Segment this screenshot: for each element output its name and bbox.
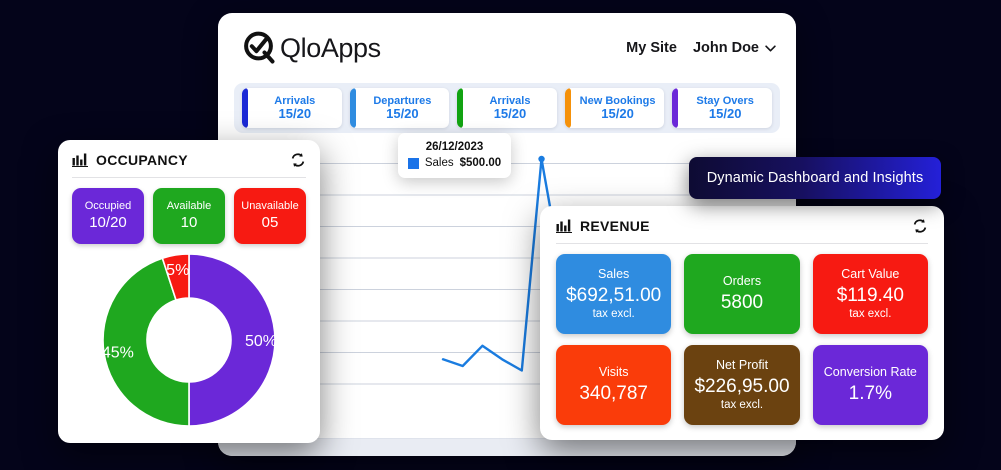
tile-label: Unavailable <box>241 200 298 214</box>
revenue-title-group: REVENUE <box>556 218 650 234</box>
tile-label: Net Profit <box>716 358 768 373</box>
kpi-body: Arrivals 15/20 <box>463 88 557 128</box>
tooltip-series-name: Sales <box>425 157 454 169</box>
donut-slice-label: 5% <box>166 262 189 279</box>
occupancy-tile[interactable]: Unavailable 05 <box>234 188 306 244</box>
tooltip-series-swatch <box>408 158 419 169</box>
tile-value: 5800 <box>721 291 763 314</box>
revenue-panel-header: REVENUE <box>556 218 928 234</box>
kpi-card[interactable]: New Bookings 15/20 <box>565 88 665 128</box>
occupancy-tile[interactable]: Occupied 10/20 <box>72 188 144 244</box>
chart-tooltip: 26/12/2023 Sales $500.00 <box>398 133 511 178</box>
bar-chart-icon <box>556 219 572 233</box>
chart-peak-point <box>538 156 544 162</box>
kpi-card[interactable]: Stay Overs 15/20 <box>672 88 772 128</box>
tile-sub: tax excl. <box>721 398 763 412</box>
refresh-icon[interactable] <box>912 218 928 234</box>
user-menu[interactable]: John Doe <box>693 40 776 56</box>
kpi-card[interactable]: Arrivals 15/20 <box>457 88 557 128</box>
user-name: John Doe <box>693 40 759 56</box>
tile-value: 1.7% <box>849 382 892 405</box>
donut-slice-label: 45% <box>102 344 134 361</box>
tile-value: 05 <box>262 214 279 233</box>
revenue-tile[interactable]: Net Profit $226,95.00 tax excl. <box>684 345 799 425</box>
bar-chart-icon <box>72 153 88 167</box>
brand-name: QloApps <box>280 33 381 64</box>
occupancy-title-group: OCCUPANCY <box>72 152 188 168</box>
check-circle-q-logo-icon <box>242 30 278 66</box>
donut-slice-label: 50% <box>245 333 277 350</box>
tile-value: $119.40 <box>837 284 904 307</box>
occupancy-panel-header: OCCUPANCY <box>72 152 306 168</box>
tile-label: Cart Value <box>841 267 899 282</box>
kpi-card[interactable]: Departures 15/20 <box>350 88 450 128</box>
tile-value: 10/20 <box>89 214 127 233</box>
occupancy-tile[interactable]: Available 10 <box>153 188 225 244</box>
tooltip-row: Sales $500.00 <box>408 157 501 169</box>
brand[interactable]: QloApps <box>242 30 381 66</box>
tile-value: 10 <box>181 214 198 233</box>
tooltip-series-value: $500.00 <box>460 157 502 169</box>
screenshot-stage: QloApps My Site John Doe Arrivals 15/20 <box>0 0 1001 470</box>
chevron-down-icon <box>765 45 776 52</box>
kpi-value: 15/20 <box>601 107 634 122</box>
refresh-icon[interactable] <box>290 152 306 168</box>
tile-label: Sales <box>598 267 629 282</box>
revenue-tile[interactable]: Sales $692,51.00 tax excl. <box>556 254 671 334</box>
kpi-body: Departures 15/20 <box>356 88 450 128</box>
tile-value: $692,51.00 <box>566 284 661 307</box>
header-right: My Site John Doe <box>626 40 776 56</box>
tile-label: Occupied <box>85 200 131 214</box>
kpi-value: 15/20 <box>386 107 419 122</box>
occupancy-donut-chart[interactable]: 50%45%5% <box>72 252 306 427</box>
occupancy-title: OCCUPANCY <box>96 152 188 168</box>
kpi-value: 15/20 <box>279 107 312 122</box>
kpi-strip: Arrivals 15/20 Departures 15/20 Arrivals… <box>234 83 780 133</box>
tile-label: Conversion Rate <box>824 365 917 380</box>
tooltip-date: 26/12/2023 <box>408 141 501 153</box>
revenue-panel: REVENUE Sales $692,51.00 tax excl. Order… <box>540 206 944 440</box>
kpi-body: New Bookings 15/20 <box>571 88 665 128</box>
divider <box>72 177 306 178</box>
occupancy-panel: OCCUPANCY Occupied 10/20 Available 10 <box>58 140 320 443</box>
occupancy-tiles: Occupied 10/20 Available 10 Unavailable … <box>72 188 306 244</box>
tile-value: $226,95.00 <box>694 375 789 398</box>
tile-sub: tax excl. <box>849 307 891 321</box>
divider <box>556 243 928 244</box>
kpi-body: Stay Overs 15/20 <box>678 88 772 128</box>
revenue-title: REVENUE <box>580 218 650 234</box>
kpi-card[interactable]: Arrivals 15/20 <box>242 88 342 128</box>
tile-label: Orders <box>723 274 761 289</box>
tile-sub: tax excl. <box>593 307 635 321</box>
kpi-body: Arrivals 15/20 <box>248 88 342 128</box>
tile-value: 340,787 <box>579 382 648 405</box>
revenue-tile[interactable]: Cart Value $119.40 tax excl. <box>813 254 928 334</box>
kpi-value: 15/20 <box>709 107 742 122</box>
revenue-tile[interactable]: Conversion Rate 1.7% <box>813 345 928 425</box>
tile-label: Visits <box>599 365 629 380</box>
revenue-tiles: Sales $692,51.00 tax excl. Orders 5800 C… <box>556 254 928 425</box>
tile-label: Available <box>167 200 211 214</box>
dashboard-header: QloApps My Site John Doe <box>218 13 796 83</box>
kpi-value: 15/20 <box>494 107 527 122</box>
callout-text: Dynamic Dashboard and Insights <box>707 170 924 186</box>
callout-badge: Dynamic Dashboard and Insights <box>689 157 941 199</box>
revenue-tile[interactable]: Visits 340,787 <box>556 345 671 425</box>
my-site-link[interactable]: My Site <box>626 40 677 56</box>
revenue-tile[interactable]: Orders 5800 <box>684 254 799 334</box>
